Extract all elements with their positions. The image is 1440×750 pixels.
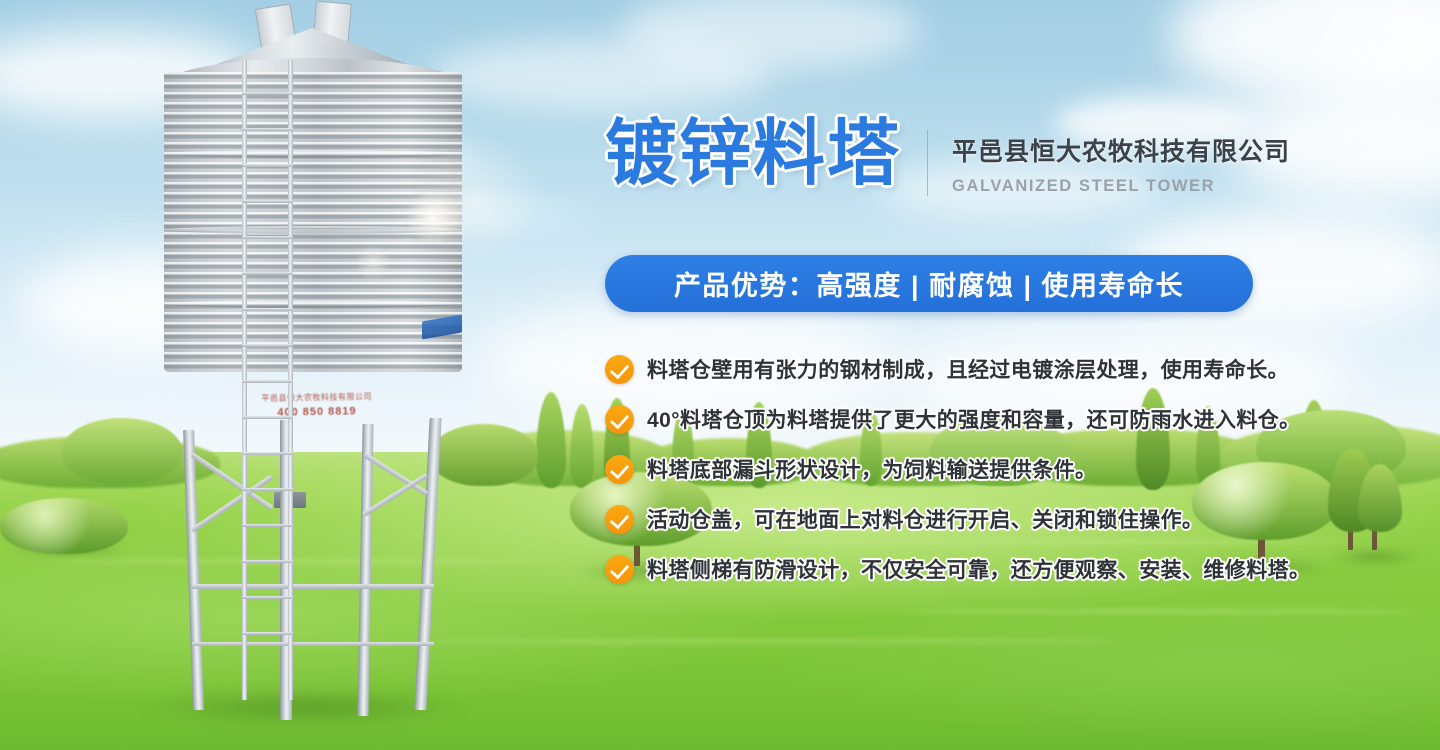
check-circle-icon [605,505,634,534]
check-circle-icon [605,455,634,484]
company-name: 平邑县恒大农牧科技有限公司 [952,132,1290,168]
banner-content: 镀锌料塔 平邑县恒大农牧科技有限公司 GALVANIZED STEEL TOWE… [0,0,1440,750]
title-divider [927,130,928,196]
company-block: 平邑县恒大农牧科技有限公司 GALVANIZED STEEL TOWER [952,132,1290,196]
feature-text: 40°料塔仓顶为料塔提供了更大的强度和容量，还可防雨水进入料仓。 [647,404,1301,434]
page-title: 镀锌料塔 [605,118,901,190]
feature-text: 料塔底部漏斗形状设计，为饲料输送提供条件。 [647,454,1096,484]
advantage-badge: 产品优势：高强度 | 耐腐蚀 | 使用寿命长 [605,255,1253,312]
list-item: 料塔侧梯有防滑设计，不仅安全可靠，还方便观察、安装、维修料塔。 [605,552,1325,586]
check-circle-icon [605,405,634,434]
list-item: 40°料塔仓顶为料塔提供了更大的强度和容量，还可防雨水进入料仓。 [605,402,1325,436]
company-subtitle: GALVANIZED STEEL TOWER [952,177,1290,196]
list-item: 料塔仓壁用有张力的钢材制成，且经过电镀涂层处理，使用寿命长。 [605,352,1325,386]
feature-list: 料塔仓壁用有张力的钢材制成，且经过电镀涂层处理，使用寿命长。 40°料塔仓顶为料… [605,352,1325,602]
hero-banner: 平邑县恒大农牧科技有限公司 400 850 8819 [0,0,1440,750]
list-item: 活动仓盖，可在地面上对料仓进行开启、关闭和锁住操作。 [605,502,1325,536]
check-circle-icon [605,355,634,384]
feature-text: 料塔仓壁用有张力的钢材制成，且经过电镀涂层处理，使用寿命长。 [647,354,1289,384]
advantage-badge-label: 产品优势：高强度 | 耐腐蚀 | 使用寿命长 [674,264,1184,303]
headline-row: 镀锌料塔 平邑县恒大农牧科技有限公司 GALVANIZED STEEL TOWE… [605,118,1290,196]
feature-text: 活动仓盖，可在地面上对料仓进行开启、关闭和锁住操作。 [647,504,1203,534]
feature-text: 料塔侧梯有防滑设计，不仅安全可靠，还方便观察、安装、维修料塔。 [647,554,1310,584]
list-item: 料塔底部漏斗形状设计，为饲料输送提供条件。 [605,452,1325,486]
check-circle-icon [605,555,634,584]
